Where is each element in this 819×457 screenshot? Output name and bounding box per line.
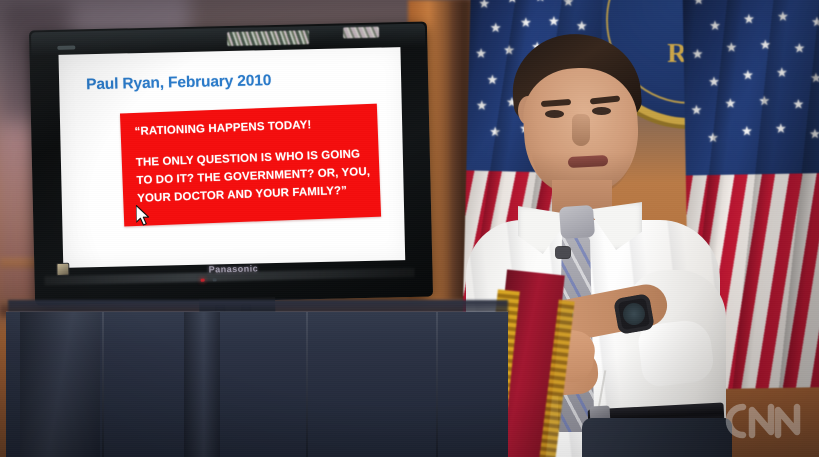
monitor-reflection xyxy=(227,30,309,46)
quote-callout-box: “RATIONING HAPPENS TODAY! THE ONLY QUEST… xyxy=(120,104,381,227)
skirt-fold xyxy=(436,312,438,457)
quote-line: “RATIONING HAPPENS TODAY! xyxy=(134,119,311,138)
power-led-indicator xyxy=(201,279,205,282)
mouse-cursor-icon xyxy=(136,205,152,227)
slide-title: Paul Ryan, February 2010 xyxy=(86,72,271,93)
quote-line: TO DO IT? THE GOVERNMENT? OR, YOU, xyxy=(136,166,370,187)
monitor-reflection xyxy=(343,27,379,39)
trousers xyxy=(582,418,732,457)
standby-led-indicator xyxy=(213,278,217,281)
skirt-fold xyxy=(306,312,308,457)
skirt-drape xyxy=(20,312,100,457)
presentation-slide[interactable]: Paul Ryan, February 2010 “RATIONING HAPP… xyxy=(58,47,405,268)
skirt-fold xyxy=(102,312,104,457)
monitor-reflection xyxy=(57,46,75,50)
quote-line: YOUR DOCTOR AND YOUR FAMILY?” xyxy=(137,185,347,205)
lapel-microphone xyxy=(556,247,570,258)
eye-left xyxy=(545,110,564,118)
broadcast-frame: RE ★ ★ ★ ★ ★ ★ ★ ★ ★ ★ ★ ★ ★ ★ ★ ★ ★ ★ ★… xyxy=(0,0,819,457)
nose xyxy=(572,114,590,146)
table-skirt xyxy=(6,312,508,457)
necktie-knot xyxy=(559,205,595,239)
panasonic-monitor[interactable]: Paul Ryan, February 2010 “RATIONING HAPP… xyxy=(29,22,433,306)
skirt-pleat xyxy=(184,312,220,457)
eye-right xyxy=(592,107,611,115)
cnn-watermark xyxy=(716,398,808,444)
quote-line: THE ONLY QUESTION IS WHO IS GOING xyxy=(136,148,361,169)
